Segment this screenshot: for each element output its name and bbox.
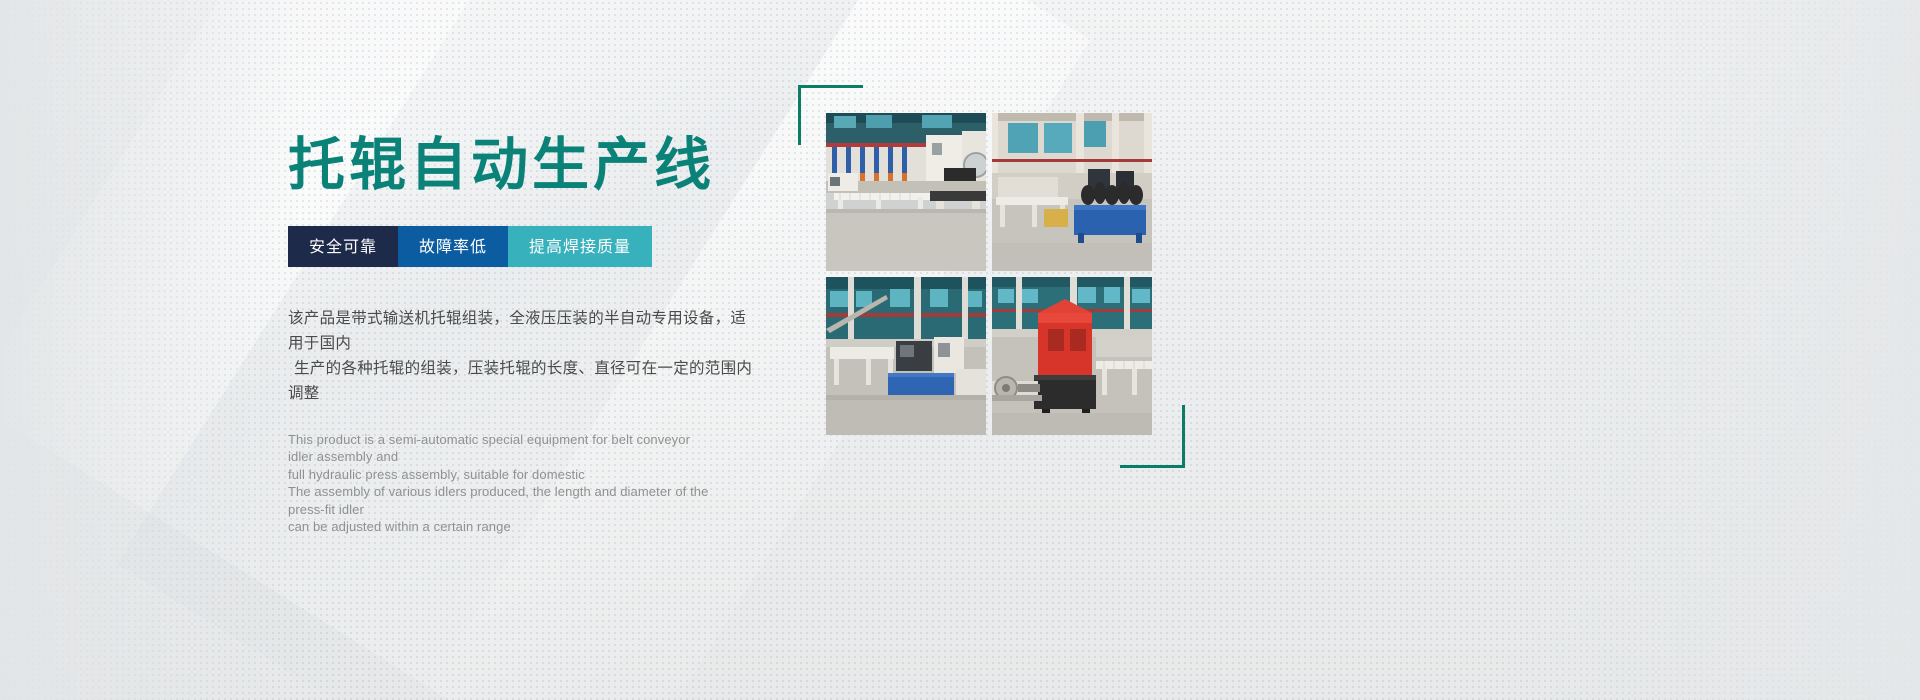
description-english-line-4: can be adjusted within a certain range	[288, 518, 718, 536]
photo-production-machines[interactable]	[826, 277, 986, 435]
feature-badge-low-failure[interactable]: 故障率低	[398, 226, 508, 267]
description-english-line-3: The assembly of various idlers produced,…	[288, 483, 718, 518]
feature-badge-safety[interactable]: 安全可靠	[288, 226, 398, 267]
description-english-line-2: full hydraulic press assembly, suitable …	[288, 466, 718, 484]
photo-gallery-row-2	[826, 277, 1152, 435]
feature-badge-safety-label: 安全可靠	[309, 237, 377, 256]
photo-idler-conveyor-line-image	[826, 113, 986, 271]
banner-content: 托辊自动生产线 安全可靠 故障率低 提高焊接质量 该产品是带式输送机托辊组装，全…	[288, 136, 758, 536]
description-chinese: 该产品是带式输送机托辊组装，全液压压装的半自动专用设备，适用于国内 生产的各种托…	[288, 306, 758, 406]
photo-production-machines-image	[826, 277, 986, 435]
description-chinese-line-1: 该产品是带式输送机托辊组装，全液压压装的半自动专用设备，适用于国内	[288, 306, 758, 356]
photo-gallery	[826, 113, 1152, 435]
photo-workshop-assembly-image	[992, 113, 1152, 271]
photo-gallery-row-1	[826, 113, 1152, 271]
photo-red-press-machine-image	[992, 277, 1152, 435]
photo-idler-conveyor-line[interactable]	[826, 113, 986, 271]
description-english-line-1: This product is a semi-automatic special…	[288, 431, 718, 466]
background-right-fade	[1500, 0, 1920, 700]
background-left-fade	[0, 0, 300, 700]
description-chinese-line-2: 生产的各种托辊的组装，压装托辊的长度、直径可在一定的范围内调整	[288, 356, 758, 406]
photo-workshop-assembly[interactable]	[992, 113, 1152, 271]
feature-badge-weld-quality[interactable]: 提高焊接质量	[508, 226, 652, 267]
banner-title: 托辊自动生产线	[288, 136, 758, 196]
feature-badge-group: 安全可靠 故障率低 提高焊接质量	[288, 226, 758, 267]
description-english: This product is a semi-automatic special…	[288, 431, 758, 536]
photo-red-press-machine[interactable]	[992, 277, 1152, 435]
feature-badge-weld-quality-label: 提高焊接质量	[529, 237, 631, 256]
banner-root: 托辊自动生产线 安全可靠 故障率低 提高焊接质量 该产品是带式输送机托辊组装，全…	[0, 0, 1920, 700]
feature-badge-low-failure-label: 故障率低	[419, 237, 487, 256]
